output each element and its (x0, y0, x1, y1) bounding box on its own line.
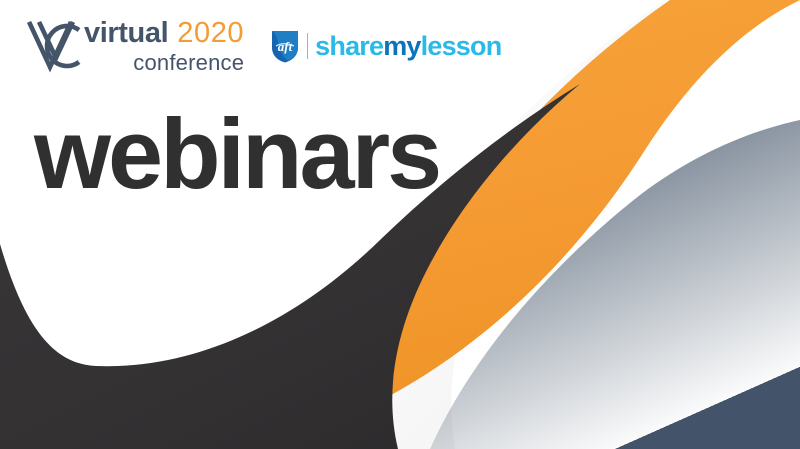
aft-shield-icon: aft (270, 28, 300, 64)
sml-share-text: share (315, 31, 383, 61)
vc-monogram-icon (26, 18, 84, 74)
page-title: webinars (34, 104, 439, 203)
svg-text:aft: aft (278, 39, 293, 54)
webinar-promo-banner: virtual 2020 conference aft sharemylesso… (0, 0, 800, 449)
logo-lockup-row: virtual 2020 conference aft sharemylesso… (26, 18, 501, 74)
sml-lesson-text: lesson (421, 31, 502, 61)
sml-divider (307, 33, 308, 59)
vc-line-one: virtual 2020 (84, 19, 244, 48)
sml-wordmark: sharemylesson (315, 31, 501, 62)
vc-wordmark: virtual 2020 conference (84, 19, 244, 74)
virtual-conference-logo: virtual 2020 conference (26, 18, 244, 74)
vc-conference-text: conference (84, 52, 244, 74)
vc-virtual-text: virtual (84, 19, 168, 48)
vc-year-text: 2020 (177, 19, 244, 48)
sharemylesson-logo: aft sharemylesson (270, 28, 501, 64)
sml-my-text: my (383, 31, 420, 61)
